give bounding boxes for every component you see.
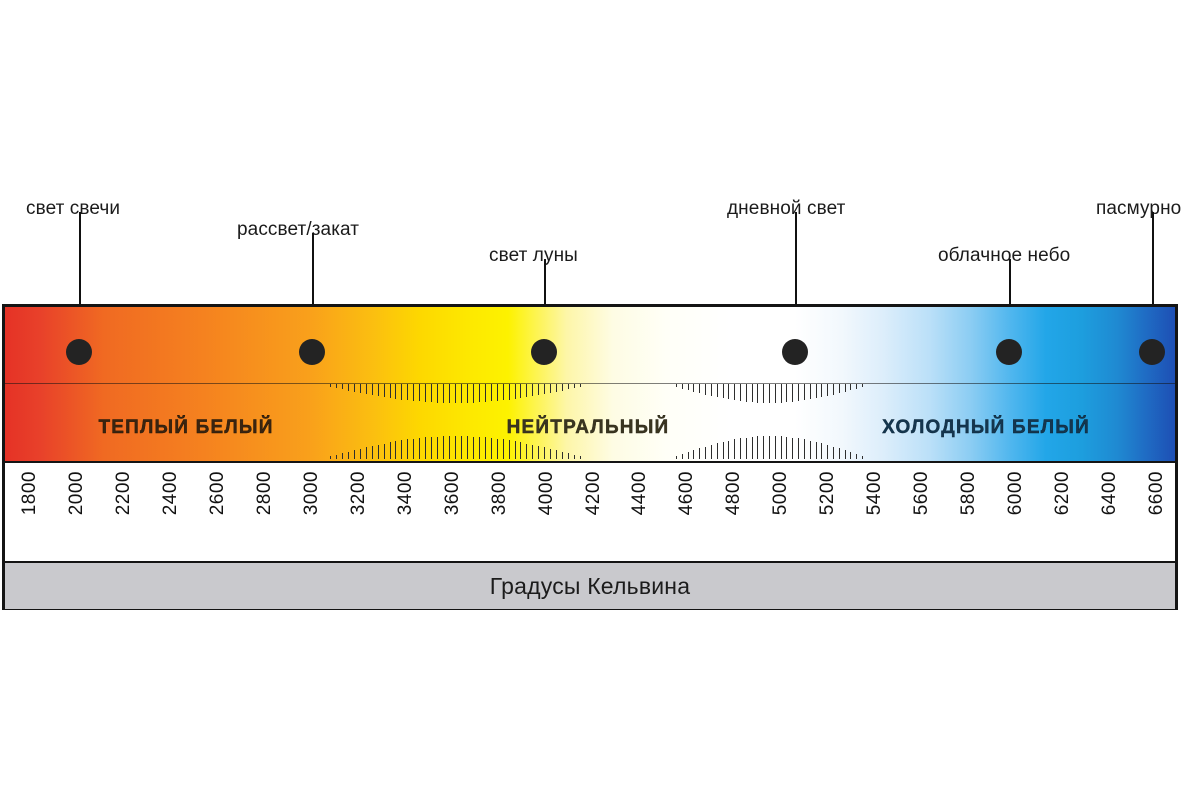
- ruler-tick: [786, 384, 787, 402]
- ruler-tick: [845, 450, 846, 459]
- kelvin-tick-label: 3200: [348, 471, 370, 515]
- ruler-tick: [740, 384, 741, 401]
- ruler-tick: [580, 384, 581, 387]
- ruler-tick: [360, 449, 361, 459]
- ruler-tick: [407, 439, 408, 459]
- kelvin-tick-label: 5400: [864, 471, 886, 515]
- ruler-tick: [425, 384, 426, 402]
- ruler-tick: [538, 384, 539, 395]
- ruler-tick: [491, 438, 492, 459]
- ruler-tick: [693, 384, 694, 392]
- ruler-tick: [839, 384, 840, 393]
- kelvin-tick-label: 5800: [958, 471, 980, 515]
- ruler-tick: [734, 439, 735, 459]
- kelvin-numbers-row: 1800200022002400260028003000320034003600…: [5, 461, 1175, 563]
- ruler-tick: [544, 384, 545, 394]
- ruler-tick: [390, 384, 391, 398]
- ruler-tick: [461, 384, 462, 403]
- ruler-tick: [568, 384, 569, 389]
- kelvin-tick-label: 5200: [817, 471, 839, 515]
- ruler-tick: [509, 384, 510, 400]
- chart-frame: ТЕПЛЫЙ БЕЛЫЙНЕЙТРАЛЬНЫЙХОЛОДНЫЙ БЕЛЫЙ 18…: [2, 304, 1178, 610]
- ruler-tick: [682, 454, 683, 459]
- ruler-tick: [395, 384, 396, 399]
- ruler-tick: [532, 384, 533, 396]
- ruler-tick: [366, 447, 367, 459]
- ruler-tick: [562, 452, 563, 459]
- kelvin-gradient-strip: ТЕПЛЫЙ БЕЛЫЙНЕЙТРАЛЬНЫЙХОЛОДНЫЙ БЕЛЫЙ: [5, 307, 1175, 461]
- ruler-tick: [384, 444, 385, 459]
- ruler-tick: [550, 384, 551, 393]
- ruler-tick: [520, 442, 521, 459]
- kelvin-tick-label: 4800: [723, 471, 745, 515]
- kelvin-tick-label: 2400: [160, 471, 182, 515]
- kelvin-tick-label: 3600: [442, 471, 464, 515]
- ruler-tick: [810, 441, 811, 459]
- ruler-tick: [833, 384, 834, 395]
- marker-dot-cloudy-sky: [996, 339, 1022, 365]
- ruler-tick: [503, 439, 504, 459]
- ruler-tick: [775, 436, 776, 459]
- ruler-tick: [336, 384, 337, 388]
- ruler-tick: [711, 384, 712, 396]
- ruler-tick: [455, 384, 456, 403]
- kelvin-tick-label: 2800: [254, 471, 276, 515]
- ruler-tick: [485, 384, 486, 402]
- ruler-tick: [816, 442, 817, 459]
- ruler-tick: [556, 384, 557, 392]
- ruler-tick: [862, 384, 863, 387]
- ruler-tick: [798, 384, 799, 401]
- ruler-tick: [769, 384, 770, 403]
- ruler-tick: [856, 384, 857, 389]
- ruler-tick: [366, 384, 367, 394]
- ruler-tick: [419, 438, 420, 459]
- ruler-tick: [485, 437, 486, 459]
- ruler-tick: [532, 445, 533, 459]
- ruler-tick: [757, 436, 758, 459]
- ruler-tick: [491, 384, 492, 401]
- ruler-tick: [401, 384, 402, 400]
- ruler-tick: [354, 384, 355, 392]
- ruler-tick: [699, 384, 700, 393]
- ruler-tick: [443, 384, 444, 403]
- callout-label-0: свет свечи: [26, 198, 120, 220]
- ruler-tick: [378, 384, 379, 396]
- ruler-tick: [509, 440, 510, 459]
- ruler-tick: [515, 441, 516, 459]
- kelvin-tick-label: 4200: [583, 471, 605, 515]
- kelvin-tick-label: 5000: [770, 471, 792, 515]
- ruler-tick: [769, 436, 770, 459]
- ruler-group-upper-warm: [330, 384, 580, 404]
- ruler-tick: [804, 384, 805, 400]
- ruler-tick: [804, 439, 805, 459]
- ruler-tick: [763, 384, 764, 403]
- ruler-tick: [503, 384, 504, 400]
- ruler-tick: [526, 384, 527, 397]
- marker-dot-moonlight: [531, 339, 557, 365]
- callout-label-5: пасмурно: [1096, 198, 1181, 220]
- marker-dot-overcast: [1139, 339, 1165, 365]
- ruler-tick: [850, 452, 851, 459]
- ruler-tick: [497, 384, 498, 401]
- marker-dot-daylight: [782, 339, 808, 365]
- ruler-tick: [688, 452, 689, 459]
- marker-dot-sunrise-sunset: [299, 339, 325, 365]
- ruler-tick: [821, 384, 822, 397]
- ruler-tick: [419, 384, 420, 401]
- ruler-tick: [461, 436, 462, 459]
- ruler-tick: [734, 384, 735, 400]
- ruler-tick: [449, 436, 450, 459]
- ruler-tick: [705, 447, 706, 459]
- ruler-tick: [752, 437, 753, 459]
- ruler-tick: [342, 384, 343, 389]
- ruler-tick: [449, 384, 450, 403]
- ruler-tick: [479, 384, 480, 402]
- color-temperature-chart: свет свечирассвет/закатсвет луныдневной …: [0, 0, 1200, 800]
- ruler-tick: [574, 384, 575, 388]
- ruler-tick: [728, 384, 729, 399]
- kelvin-tick-label: 2200: [113, 471, 135, 515]
- ruler-tick: [437, 384, 438, 403]
- ruler-tick: [688, 384, 689, 390]
- callout-label-4: облачное небо: [938, 245, 1070, 267]
- ruler-tick: [473, 384, 474, 403]
- ruler-tick: [699, 448, 700, 459]
- ruler-tick: [676, 456, 677, 459]
- kelvin-tick-label: 3800: [489, 471, 511, 515]
- ruler-tick: [717, 443, 718, 459]
- ruler-tick: [437, 437, 438, 459]
- ruler-tick: [723, 442, 724, 459]
- ruler-tick: [467, 384, 468, 403]
- ruler-tick: [693, 450, 694, 459]
- ruler-tick: [711, 445, 712, 459]
- ruler-tick: [728, 441, 729, 459]
- ruler-tick: [330, 456, 331, 459]
- ruler-tick: [862, 456, 863, 459]
- ruler-tick: [740, 438, 741, 459]
- ruler-tick: [497, 439, 498, 459]
- ruler-group-upper-cool: [676, 384, 862, 404]
- ruler-tick: [467, 436, 468, 459]
- ruler-group-lower-cool: [676, 435, 862, 459]
- ruler-tick: [580, 456, 581, 459]
- ruler-tick: [781, 436, 782, 459]
- ruler-tick: [407, 384, 408, 400]
- ruler-tick: [850, 384, 851, 390]
- ruler-tick: [360, 384, 361, 393]
- ruler-tick: [443, 436, 444, 459]
- ruler-tick: [515, 384, 516, 399]
- ruler-tick: [372, 384, 373, 395]
- ruler-tick: [839, 448, 840, 459]
- ruler-tick: [372, 446, 373, 459]
- ruler-tick: [336, 455, 337, 459]
- ruler-tick: [827, 384, 828, 396]
- callout-label-3: дневной свет: [727, 198, 845, 220]
- ruler-tick: [845, 384, 846, 392]
- ruler-tick: [757, 384, 758, 403]
- ruler-tick: [544, 447, 545, 459]
- ruler-group-lower-warm: [330, 435, 580, 459]
- kelvin-tick-label: 4600: [676, 471, 698, 515]
- ruler-tick: [676, 384, 677, 387]
- ruler-tick: [856, 454, 857, 459]
- ruler-tick: [816, 384, 817, 398]
- kelvin-tick-label: 2000: [66, 471, 88, 515]
- ruler-tick: [473, 437, 474, 459]
- kelvin-tick-label: 1800: [19, 471, 41, 515]
- ruler-tick: [550, 449, 551, 459]
- ruler-tick: [390, 442, 391, 459]
- ruler-tick: [792, 438, 793, 459]
- ruler-tick: [348, 384, 349, 391]
- ruler-tick: [705, 384, 706, 395]
- ruler-tick: [833, 447, 834, 459]
- ruler-tick: [354, 450, 355, 459]
- ruler-tick: [574, 455, 575, 459]
- ruler-tick: [723, 384, 724, 398]
- ruler-tick: [821, 443, 822, 459]
- ruler-tick: [455, 436, 456, 459]
- ruler-tick: [378, 445, 379, 459]
- kelvin-tick-label: 6000: [1005, 471, 1027, 515]
- ruler-tick: [717, 384, 718, 397]
- ruler-tick: [810, 384, 811, 399]
- ruler-tick: [786, 437, 787, 459]
- ruler-tick: [827, 445, 828, 459]
- ruler-tick: [526, 444, 527, 459]
- kelvin-tick-label: 4000: [536, 471, 558, 515]
- ruler-tick: [568, 453, 569, 459]
- kelvin-tick-label: 2600: [207, 471, 229, 515]
- ruler-tick: [425, 437, 426, 459]
- ruler-tick: [342, 453, 343, 459]
- kelvin-tick-label: 3000: [301, 471, 323, 515]
- ruler-tick: [746, 438, 747, 459]
- strip-divider: [5, 383, 1175, 384]
- ruler-tick: [562, 384, 563, 391]
- ruler-tick: [556, 450, 557, 459]
- ruler-tick: [792, 384, 793, 402]
- footer-label: Градусы Кельвина: [490, 573, 690, 600]
- ruler-tick: [384, 384, 385, 397]
- kelvin-tick-label: 6600: [1146, 471, 1168, 515]
- ruler-tick: [401, 440, 402, 459]
- band-label-cool: ХОЛОДНЫЙ БЕЛЫЙ: [882, 417, 1090, 439]
- marker-dot-candlelight: [66, 339, 92, 365]
- ruler-tick: [775, 384, 776, 403]
- ruler-tick: [798, 438, 799, 459]
- ruler-tick: [431, 437, 432, 459]
- ruler-tick: [752, 384, 753, 402]
- ruler-tick: [746, 384, 747, 402]
- kelvin-tick-label: 6200: [1052, 471, 1074, 515]
- callout-label-1: рассвет/закат: [237, 219, 359, 241]
- ruler-tick: [395, 441, 396, 459]
- ruler-tick: [479, 437, 480, 459]
- ruler-tick: [781, 384, 782, 403]
- kelvin-tick-label: 4400: [629, 471, 651, 515]
- callout-label-2: свет луны: [489, 245, 578, 267]
- kelvin-tick-label: 6400: [1099, 471, 1121, 515]
- ruler-tick: [413, 384, 414, 401]
- footer-band: Градусы Кельвина: [5, 561, 1175, 609]
- ruler-tick: [682, 384, 683, 389]
- ruler-tick: [348, 452, 349, 459]
- ruler-tick: [431, 384, 432, 402]
- ruler-tick: [413, 439, 414, 459]
- kelvin-tick-label: 3400: [395, 471, 417, 515]
- ruler-tick: [763, 436, 764, 459]
- kelvin-tick-label: 5600: [911, 471, 933, 515]
- ruler-tick: [538, 446, 539, 459]
- ruler-tick: [330, 384, 331, 387]
- ruler-tick: [520, 384, 521, 398]
- band-label-warm: ТЕПЛЫЙ БЕЛЫЙ: [98, 417, 273, 439]
